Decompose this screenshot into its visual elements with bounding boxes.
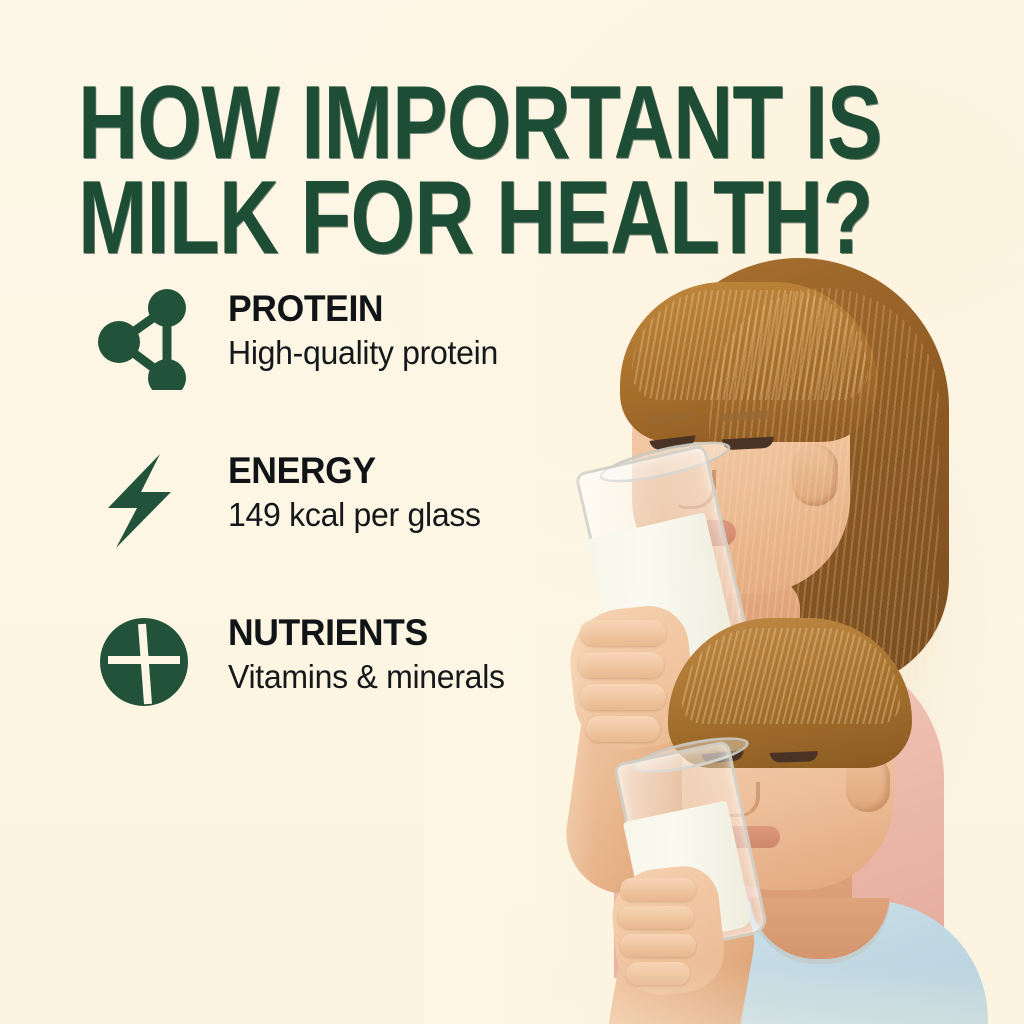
milk-health-infographic: HOW IMPORTANT IS MILK FOR HEALTH? [0, 0, 1024, 1024]
feature-label: ENERGY [228, 452, 612, 489]
lightning-bolt-icon [92, 448, 196, 552]
headline-line-2: MILK FOR HEALTH? [78, 171, 798, 267]
boy-finger [620, 934, 696, 957]
headline-line-1: HOW IMPORTANT IS [78, 76, 798, 172]
feature-item-energy: ENERGY 149 kcal per glass [92, 444, 612, 606]
molecule-icon [92, 286, 196, 390]
feature-description: Vitamins & minerals [228, 659, 616, 696]
feature-item-nutrients: NUTRIENTS Vitamins & minerals [92, 606, 612, 768]
feature-text-energy: ENERGY 149 kcal per glass [228, 452, 628, 534]
feature-description: 149 kcal per glass [228, 497, 616, 534]
feature-label: PROTEIN [228, 290, 612, 327]
feature-item-protein: PROTEIN High-quality protein [92, 282, 612, 444]
boy-finger [626, 962, 690, 985]
feature-list: PROTEIN High-quality protein ENERGY 149 … [92, 282, 612, 768]
medical-cross-circle-icon [92, 610, 196, 714]
feature-description: High-quality protein [228, 335, 616, 372]
page-title: HOW IMPORTANT IS MILK FOR HEALTH? [78, 76, 798, 267]
feature-text-nutrients: NUTRIENTS Vitamins & minerals [228, 614, 628, 696]
boy-finger [618, 906, 694, 929]
feature-label: NUTRIENTS [228, 614, 612, 651]
boy-finger [620, 878, 696, 901]
feature-text-protein: PROTEIN High-quality protein [228, 290, 628, 372]
boy-drinking-milk [610, 600, 1024, 1024]
